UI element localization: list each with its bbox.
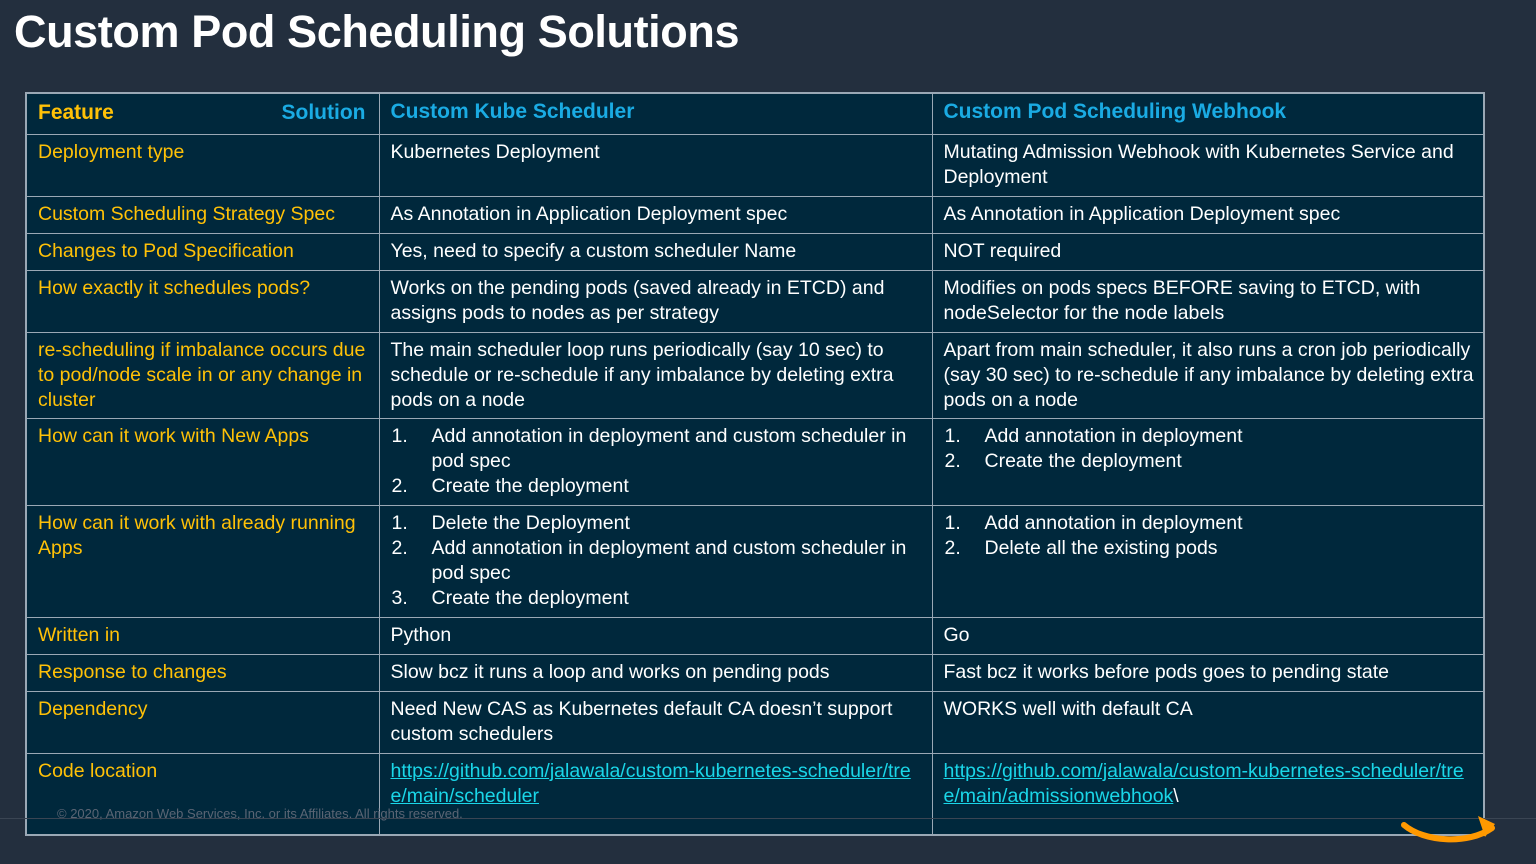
table-row: How can it work with New Apps 1. Add ann… bbox=[26, 419, 1484, 506]
table-row: Dependency Need New CAS as Kubernetes de… bbox=[26, 692, 1484, 754]
webhook-value-cell: NOT required bbox=[932, 233, 1484, 270]
feature-label-cell: re-scheduling if imbalance occurs due to… bbox=[26, 332, 379, 419]
kube-scheduler-repo-link[interactable]: https://github.com/jalawala/custom-kuber… bbox=[391, 760, 911, 807]
footer-divider bbox=[0, 818, 1536, 819]
feature-label-cell: How exactly it schedules pods? bbox=[26, 270, 379, 332]
list-item-text: Add annotation in deployment and custom … bbox=[432, 425, 907, 472]
feature-label-cell: Deployment type bbox=[26, 134, 379, 196]
feature-label-cell: Dependency bbox=[26, 692, 379, 754]
kube-value-cell: The main scheduler loop runs periodicall… bbox=[379, 332, 932, 419]
header-cell-custom-pod-scheduling-webhook: Custom Pod Scheduling Webhook bbox=[932, 93, 1484, 134]
list-item: 2. Delete all the existing pods bbox=[944, 536, 1475, 561]
list-number: 1. bbox=[392, 511, 422, 536]
header-cell-custom-kube-scheduler: Custom Kube Scheduler bbox=[379, 93, 932, 134]
list-number: 1. bbox=[945, 511, 975, 536]
table-row: Deployment type Kubernetes Deployment Mu… bbox=[26, 134, 1484, 196]
list-item: 2. Add annotation in deployment and cust… bbox=[391, 536, 923, 586]
comparison-table: Feature Solution Custom Kube Scheduler C… bbox=[25, 92, 1485, 836]
kube-value-cell: 1. Add annotation in deployment and cust… bbox=[379, 419, 932, 506]
list-item-text: Delete the Deployment bbox=[432, 512, 630, 534]
webhook-value-cell: 1. Add annotation in deployment 2. Creat… bbox=[932, 419, 1484, 506]
link-trailing-character: \ bbox=[1173, 785, 1178, 807]
table-row: Written in Python Go bbox=[26, 618, 1484, 655]
kube-steps-list: 1. Delete the Deployment 2. Add annotati… bbox=[391, 511, 923, 611]
list-number: 1. bbox=[392, 424, 422, 449]
kube-value-cell: Works on the pending pods (saved already… bbox=[379, 270, 932, 332]
webhook-value-cell: Mutating Admission Webhook with Kubernet… bbox=[932, 134, 1484, 196]
list-item-text: Add annotation in deployment bbox=[985, 425, 1243, 447]
header-label-feature: Feature bbox=[38, 100, 114, 127]
list-number: 2. bbox=[392, 474, 422, 499]
feature-label-cell: How can it work with already running App… bbox=[26, 506, 379, 618]
list-item-text: Create the deployment bbox=[985, 450, 1182, 472]
webhook-steps-list: 1. Add annotation in deployment 2. Creat… bbox=[944, 424, 1475, 474]
kube-value-cell: Kubernetes Deployment bbox=[379, 134, 932, 196]
feature-label-cell: Code location bbox=[26, 753, 379, 835]
table-row: Custom Scheduling Strategy Spec As Annot… bbox=[26, 196, 1484, 233]
list-item: 1. Add annotation in deployment and cust… bbox=[391, 424, 923, 474]
kube-steps-list: 1. Add annotation in deployment and cust… bbox=[391, 424, 923, 499]
kube-value-cell: https://github.com/jalawala/custom-kuber… bbox=[379, 753, 932, 835]
amazon-smile-logo bbox=[1400, 806, 1510, 848]
header-label-custom-pod-scheduling-webhook: Custom Pod Scheduling Webhook bbox=[944, 100, 1287, 123]
webhook-value-cell: WORKS well with default CA bbox=[932, 692, 1484, 754]
feature-label-cell: Written in bbox=[26, 618, 379, 655]
table-row: re-scheduling if imbalance occurs due to… bbox=[26, 332, 1484, 419]
kube-value-cell: Python bbox=[379, 618, 932, 655]
webhook-value-cell: 1. Add annotation in deployment 2. Delet… bbox=[932, 506, 1484, 618]
kube-value-cell: As Annotation in Application Deployment … bbox=[379, 196, 932, 233]
webhook-value-cell: Go bbox=[932, 618, 1484, 655]
header-label-custom-kube-scheduler: Custom Kube Scheduler bbox=[391, 100, 635, 123]
list-number: 2. bbox=[945, 536, 975, 561]
list-item: 1. Add annotation in deployment bbox=[944, 424, 1475, 449]
list-number: 1. bbox=[945, 424, 975, 449]
kube-value-cell: Yes, need to specify a custom scheduler … bbox=[379, 233, 932, 270]
admission-webhook-repo-link[interactable]: https://github.com/jalawala/custom-kuber… bbox=[944, 760, 1464, 807]
table-row: How can it work with already running App… bbox=[26, 506, 1484, 618]
kube-value-cell: 1. Delete the Deployment 2. Add annotati… bbox=[379, 506, 932, 618]
kube-value-cell: Slow bcz it runs a loop and works on pen… bbox=[379, 655, 932, 692]
list-item: 1. Add annotation in deployment bbox=[944, 511, 1475, 536]
list-item: 2. Create the deployment bbox=[391, 474, 923, 499]
webhook-value-cell: Apart from main scheduler, it also runs … bbox=[932, 332, 1484, 419]
list-item-text: Create the deployment bbox=[432, 475, 629, 497]
list-item-text: Add annotation in deployment and custom … bbox=[432, 537, 907, 584]
table-row: How exactly it schedules pods? Works on … bbox=[26, 270, 1484, 332]
list-number: 2. bbox=[392, 536, 422, 561]
header-label-solution: Solution bbox=[282, 100, 368, 127]
table-row: Code location https://github.com/jalawal… bbox=[26, 753, 1484, 835]
list-item-text: Delete all the existing pods bbox=[985, 537, 1218, 559]
list-item: 2. Create the deployment bbox=[944, 449, 1475, 474]
list-number: 3. bbox=[392, 586, 422, 611]
list-item-text: Add annotation in deployment bbox=[985, 512, 1243, 534]
list-number: 2. bbox=[945, 449, 975, 474]
webhook-value-cell: Fast bcz it works before pods goes to pe… bbox=[932, 655, 1484, 692]
table-header-row: Feature Solution Custom Kube Scheduler C… bbox=[26, 93, 1484, 134]
feature-label-cell: Changes to Pod Specification bbox=[26, 233, 379, 270]
table-row: Response to changes Slow bcz it runs a l… bbox=[26, 655, 1484, 692]
table-row: Changes to Pod Specification Yes, need t… bbox=[26, 233, 1484, 270]
feature-label-cell: How can it work with New Apps bbox=[26, 419, 379, 506]
page-title: Custom Pod Scheduling Solutions bbox=[14, 6, 739, 58]
list-item: 3. Create the deployment bbox=[391, 586, 923, 611]
webhook-value-cell: As Annotation in Application Deployment … bbox=[932, 196, 1484, 233]
feature-label-cell: Response to changes bbox=[26, 655, 379, 692]
webhook-steps-list: 1. Add annotation in deployment 2. Delet… bbox=[944, 511, 1475, 561]
kube-value-cell: Need New CAS as Kubernetes default CA do… bbox=[379, 692, 932, 754]
feature-label-cell: Custom Scheduling Strategy Spec bbox=[26, 196, 379, 233]
list-item: 1. Delete the Deployment bbox=[391, 511, 923, 536]
list-item-text: Create the deployment bbox=[432, 587, 629, 609]
webhook-value-cell: Modifies on pods specs BEFORE saving to … bbox=[932, 270, 1484, 332]
header-cell-feature-solution: Feature Solution bbox=[26, 93, 379, 134]
